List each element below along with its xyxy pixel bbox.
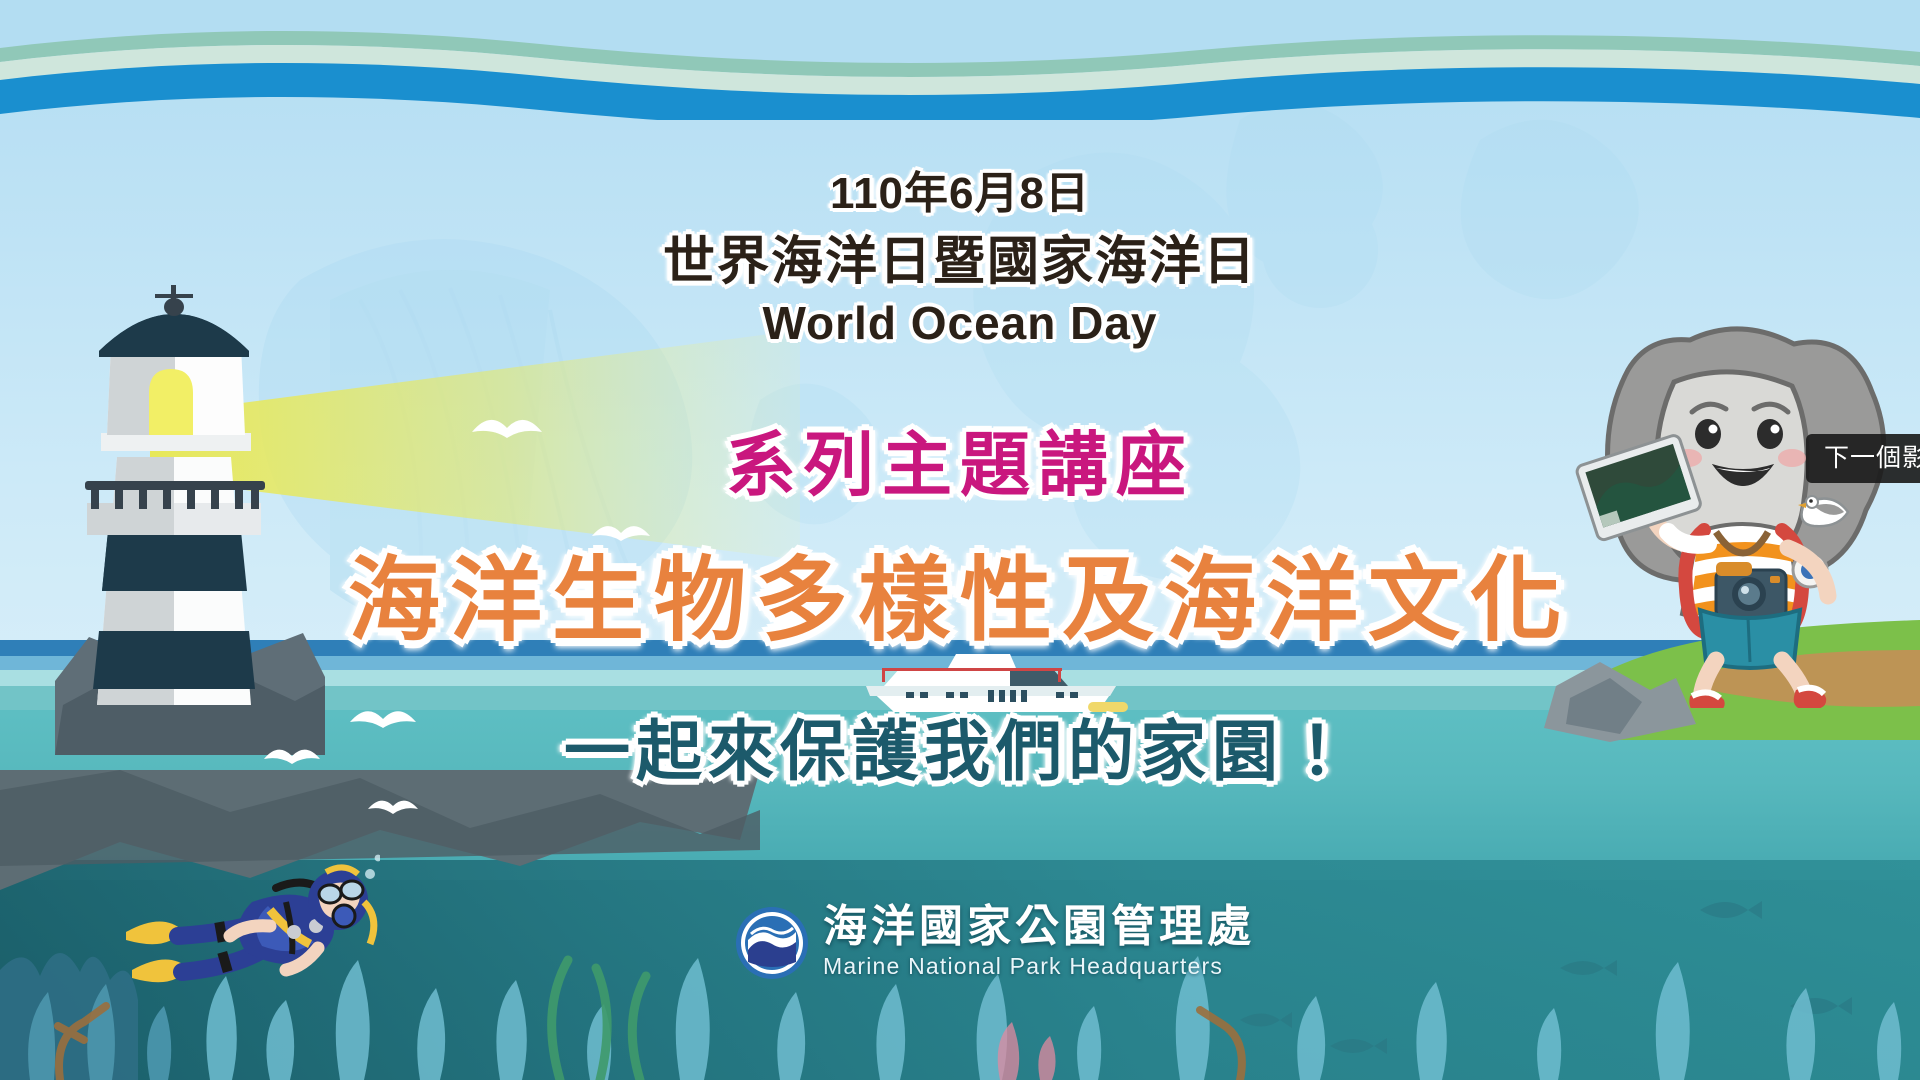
- yacht-illustration: [860, 640, 1130, 720]
- seagull-icon: [262, 740, 322, 766]
- seagull-icon: [590, 516, 652, 544]
- seagull-icon: [470, 408, 544, 442]
- org-name-en: Marine National Park Headquarters: [823, 953, 1223, 980]
- seagull-icon: [348, 700, 418, 730]
- next-video-tooltip[interactable]: 下一個影片: [1806, 434, 1920, 483]
- top-wave-decoration: [0, 0, 1920, 120]
- org-name-cn: 海洋國家公園管理處: [823, 905, 1255, 949]
- organization-logo: 海洋國家公園管理處 Marine National Park Headquart…: [735, 905, 1255, 980]
- marine-national-park-seal-icon: [735, 906, 809, 980]
- lighthouse-illustration: [55, 285, 325, 755]
- rock-mascot-character: [1556, 318, 1896, 708]
- scuba-diver-illustration: [120, 840, 380, 1040]
- video-poster-frame: 110年6月8日 世界海洋日暨國家海洋日 World Ocean Day 系列主…: [0, 0, 1920, 1080]
- seagull-icon: [366, 792, 420, 816]
